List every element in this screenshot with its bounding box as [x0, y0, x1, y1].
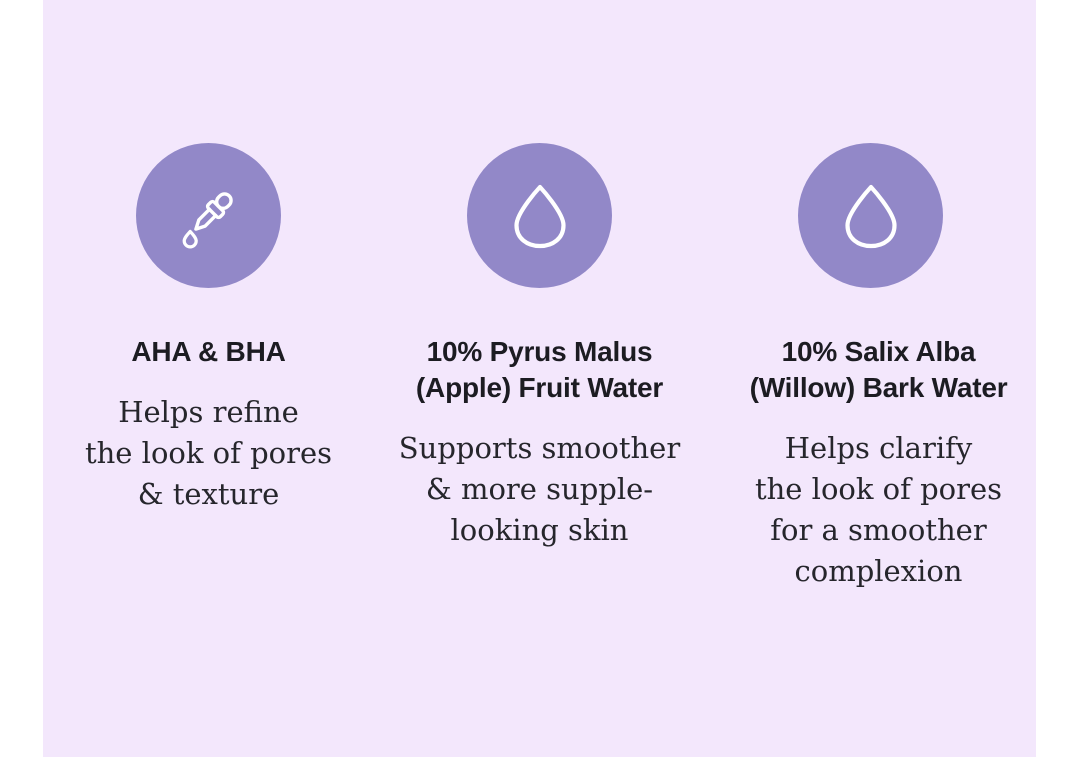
dropper-icon — [174, 181, 244, 251]
lavender-panel: AHA & BHA Helps refine the look of pores… — [43, 0, 1036, 757]
ingredient-description: Helps clarify the look of pores for a sm… — [755, 428, 1002, 592]
ingredient-description: Helps refine the look of pores & texture — [85, 392, 332, 515]
ingredient-columns: AHA & BHA Helps refine the look of pores… — [43, 0, 1036, 757]
ingredient-column-pyrus-malus: 10% Pyrus Malus (Apple) Fruit Water Supp… — [374, 0, 705, 551]
ingredient-column-salix-alba: 10% Salix Alba (Willow) Bark Water Helps… — [705, 0, 1036, 592]
ingredient-column-aha-bha: AHA & BHA Helps refine the look of pores… — [43, 0, 374, 515]
ingredient-heading: AHA & BHA — [131, 334, 285, 370]
water-drop-icon — [839, 180, 903, 252]
icon-badge — [467, 143, 612, 288]
water-drop-icon — [508, 180, 572, 252]
ingredient-benefits-graphic: AHA & BHA Helps refine the look of pores… — [0, 0, 1080, 757]
ingredient-heading: 10% Pyrus Malus (Apple) Fruit Water — [416, 334, 663, 406]
ingredient-description: Supports smoother & more supple- looking… — [399, 428, 680, 551]
icon-badge — [798, 143, 943, 288]
icon-badge — [136, 143, 281, 288]
ingredient-heading: 10% Salix Alba (Willow) Bark Water — [750, 334, 1008, 406]
